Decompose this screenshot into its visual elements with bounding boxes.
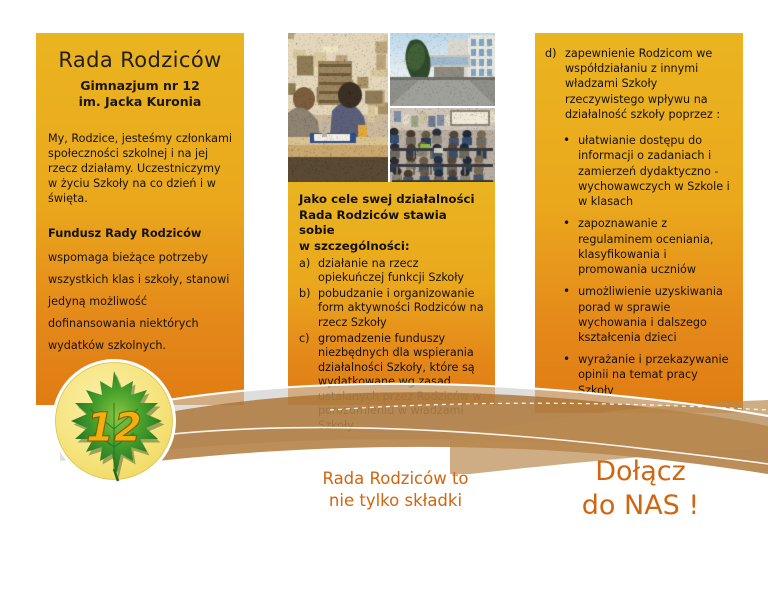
tagline-line-1: Rada Rodziców to — [288, 468, 503, 490]
bullet-icon: • — [563, 133, 570, 209]
photo-school-courtyard — [390, 33, 495, 106]
tagline: Rada Rodziców to nie tylko składki — [288, 468, 503, 512]
left-panel: Rada Rodziców Gimnazjum nr 12 im. Jacka … — [36, 33, 244, 405]
list-text: ułatwianie dostępu do informacji o zadan… — [578, 133, 733, 209]
list-text: zapewnienie Rodzicom we współdziałaniu z… — [565, 46, 733, 122]
cta-line-1: Dołącz — [528, 455, 753, 489]
list-item: • umożliwienie uzyskiwania porad w spraw… — [563, 284, 733, 345]
bullet-icon: • — [563, 216, 570, 277]
goals-heading-line-1: Jako cele swej działalności — [299, 192, 484, 208]
call-to-action: Dołącz do NAS ! — [528, 455, 753, 523]
list-item: b) pobudzanie i organizowanie form aktyw… — [299, 287, 484, 331]
list-marker: a) — [299, 257, 313, 286]
tagline-line-2: nie tylko składki — [288, 490, 503, 512]
list-item: d) zapewnienie Rodzicom we współdziałani… — [545, 46, 733, 122]
right-panel: d) zapewnienie Rodzicom we współdziałani… — [535, 33, 743, 413]
fund-heading: Fundusz Rady Rodziców — [48, 226, 232, 240]
school-name-line-2: im. Jacka Kuronia — [48, 94, 232, 110]
list-text: umożliwienie uzyskiwania porad w sprawie… — [578, 284, 733, 345]
photo-classroom — [390, 108, 495, 182]
page-title: Rada Rodziców — [48, 49, 232, 73]
list-text: zapoznawanie z regulaminem oceniania, kl… — [578, 216, 733, 277]
goals-heading-line-3: w szczególności: — [299, 239, 484, 255]
bullet-icon: • — [563, 284, 570, 345]
list-item: a) działanie na rzecz opiekuńczej funkcj… — [299, 257, 484, 286]
list-marker: d) — [545, 46, 558, 122]
list-item: • ułatwianie dostępu do informacji o zad… — [563, 133, 733, 209]
goals-heading-line-2: Rada Rodziców stawia sobie — [299, 208, 484, 239]
photo-students-at-desks — [288, 33, 388, 182]
sub-bullet-list: • ułatwianie dostępu do informacji o zad… — [545, 133, 733, 398]
school-name-line-1: Gimnazjum nr 12 — [48, 78, 232, 94]
intro-paragraph: My, Rodzice, jesteśmy członkami społeczn… — [48, 132, 232, 206]
brochure-canvas: Rada Rodziców Gimnazjum nr 12 im. Jacka … — [0, 0, 768, 593]
list-text: pobudzanie i organizowanie form aktywnoś… — [318, 287, 484, 331]
maple-leaf-badge-logo: 12 — [50, 357, 178, 485]
fund-paragraph: wspomaga bieżące potrzeby wszystkich kla… — [48, 247, 232, 356]
photo-collage — [288, 33, 495, 182]
list-marker: b) — [299, 287, 313, 331]
cta-line-2: do NAS ! — [528, 489, 753, 523]
list-item: • zapoznawanie z regulaminem oceniania, … — [563, 216, 733, 277]
list-text: działanie na rzecz opiekuńczej funkcji S… — [318, 257, 484, 286]
badge-number: 12 — [86, 405, 142, 451]
